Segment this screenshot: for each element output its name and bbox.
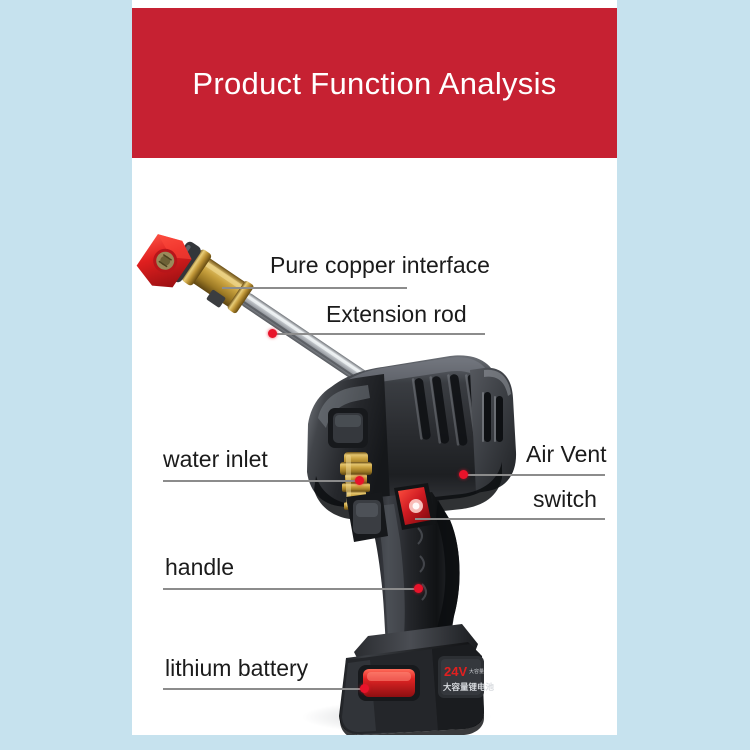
callout-leader-switch [415, 518, 605, 520]
callout-label-lithium-battery: lithium battery [165, 657, 308, 680]
callout-leader-handle [163, 588, 417, 590]
callout-label-switch: switch [533, 488, 597, 511]
callout-label-handle: handle [165, 556, 234, 579]
callout-marker-air-vent [459, 470, 468, 479]
callout-leader-water-inlet [163, 480, 360, 482]
callout-label-air-vent: Air Vent [526, 443, 607, 466]
callout-marker-handle [414, 584, 423, 593]
callout-marker-extension-rod [268, 329, 277, 338]
callout-marker-water-inlet [355, 476, 364, 485]
battery-voltage-text: 24V [444, 664, 467, 679]
callout-leader-extension-rod [272, 333, 485, 335]
callout-marker-lithium-battery [360, 684, 369, 693]
product-illustration: 24V 大容量 大容量锂电池 [132, 0, 617, 735]
callout-label-extension-rod: Extension rod [326, 303, 467, 326]
battery-subtitle-text: 大容量锂电池 [443, 682, 495, 693]
callout-leader-air-vent [463, 474, 605, 476]
page-root: Product Function Analysis [0, 0, 750, 750]
callout-label-water-inlet: water inlet [163, 448, 268, 471]
callout-leader-lithium-battery [163, 688, 365, 690]
callout-label-pure-copper-interface: Pure copper interface [270, 254, 490, 277]
callout-leader-pure-copper-interface [222, 287, 407, 289]
battery-plate-mark: 大容量 [469, 668, 484, 675]
